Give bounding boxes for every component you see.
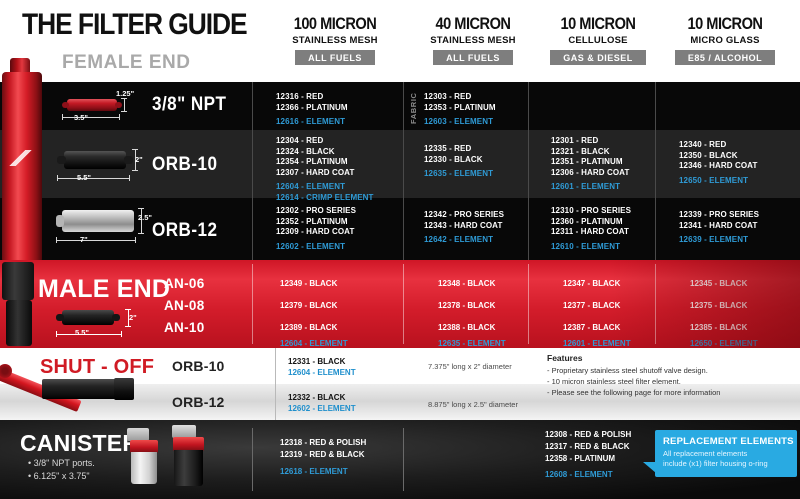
- section-title-canister: CANISTER: [20, 430, 139, 457]
- male-size-an-06: AN-06: [164, 276, 205, 291]
- canister-cell: 12317 - RED & BLACK: [545, 442, 629, 451]
- replacement-elements-callout: REPLACEMENT ELEMENTS All replacement ele…: [655, 430, 797, 477]
- shutoff-element: 12602 - ELEMENT: [288, 404, 356, 413]
- column-header-main: 100 MICRON: [275, 14, 395, 34]
- row-label-npt: 3/8" NPT: [152, 94, 226, 116]
- feature-item: - 10 micron stainless steel filter eleme…: [547, 376, 720, 387]
- column-header-sub: STAINLESS MESH: [265, 35, 405, 46]
- male-end-section: MALE END 5.5" 2" AN-06 AN-08 AN-10 12349…: [0, 260, 800, 348]
- callout-line-1: All replacement elements: [663, 449, 747, 458]
- column-divider: [403, 82, 404, 260]
- section-subtitle-female-end: FEMALE END: [62, 52, 191, 74]
- section-title-male-end: MALE END: [38, 275, 170, 304]
- column-header-sub: MICRO GLASS: [655, 35, 795, 46]
- shutoff-element: 12604 - ELEMENT: [288, 368, 356, 377]
- column-header-main: 10 MICRON: [665, 14, 785, 34]
- row-label-orb-10: ORB-10: [152, 154, 217, 176]
- canister-bullet: • 6.125" x 3.75": [28, 471, 90, 481]
- female-end-table: 3/8" NPT ORB-10 ORB-12 3.5" 1.25" 5.5": [0, 82, 800, 260]
- dimension-diameter: 2": [129, 313, 137, 322]
- table-cell-orb10-40micron: 12335 - RED 12330 - BLACK 12635 - ELEMEN…: [424, 144, 493, 180]
- male-cell: 12378 - BLACK: [438, 301, 495, 310]
- section-title-shutoff: SHUT - OFF: [40, 356, 154, 379]
- table-cell-orb12-10micron-microglass: 12339 - PRO SERIES 12341 - HARD COAT 126…: [679, 210, 759, 246]
- callout-title: REPLACEMENT ELEMENTS: [663, 436, 794, 447]
- column-divider: [403, 428, 404, 491]
- filter-guide-page: THE FILTER GUIDE FEMALE END 100 MICRON S…: [0, 0, 800, 499]
- column-header-badge: E85 / ALCOHOL: [675, 50, 775, 65]
- male-cell-element: 12635 - ELEMENT: [438, 339, 506, 348]
- shutoff-part-number: 12331 - BLACK: [288, 357, 345, 366]
- shutoff-part-number: 12332 - BLACK: [288, 393, 345, 402]
- fabric-tag: FABRIC: [409, 92, 418, 124]
- male-cell: 12379 - BLACK: [280, 301, 337, 310]
- column-divider: [528, 82, 529, 260]
- male-size-an-08: AN-08: [164, 298, 205, 313]
- features-block: Features - Proprietary stainless steel s…: [547, 353, 720, 398]
- callout-text: All replacement elements include (x1) fi…: [663, 449, 768, 469]
- canister-cell: 12318 - RED & POLISH: [280, 438, 366, 447]
- column-header-badge: ALL FUELS: [433, 50, 513, 65]
- male-cell: 12385 - BLACK: [690, 323, 747, 332]
- page-title: THE FILTER GUIDE: [22, 8, 247, 42]
- male-cell: 12375 - BLACK: [690, 301, 747, 310]
- dimension-length: 5.5": [75, 328, 89, 337]
- canister-cell: 12308 - RED & POLISH: [545, 430, 631, 439]
- table-cell-orb10-10micron-cellulose: 12301 - RED 12321 - BLACK 12351 - PLATIN…: [551, 136, 629, 193]
- male-cell: 12377 - BLACK: [563, 301, 620, 310]
- column-header-main: 10 MICRON: [538, 14, 658, 34]
- product-image-red-canister: [2, 72, 42, 262]
- column-header-main: 40 MICRON: [413, 14, 533, 34]
- shutoff-size-orb-12: ORB-12: [172, 394, 225, 410]
- column-header-badge: ALL FUELS: [295, 50, 375, 65]
- shutoff-section: SHUT - OFF ORB-10 ORB-12 12331 - BLACK 1…: [0, 348, 800, 420]
- column-header-10-micron-cellulose: 10 MICRON CELLULOSE GAS & DIESEL: [528, 14, 668, 66]
- column-divider: [655, 82, 656, 260]
- table-cell-orb12-10micron-cellulose: 12310 - PRO SERIES 12360 - PLATINUM 1231…: [551, 206, 631, 252]
- male-cell-element: 12601 - ELEMENT: [563, 339, 631, 348]
- male-cell: 12349 - BLACK: [280, 279, 337, 288]
- canister-cell: 12319 - RED & BLACK: [280, 450, 364, 459]
- canister-cell-element: 12608 - ELEMENT: [545, 470, 613, 479]
- male-cell-element: 12650 - ELEMENT: [690, 339, 758, 348]
- male-cell: 12387 - BLACK: [563, 323, 620, 332]
- shutoff-size-orb-10: ORB-10: [172, 358, 225, 374]
- table-cell-orb10-10micron-microglass: 12340 - RED 12350 - BLACK 12346 - HARD C…: [679, 140, 757, 186]
- male-cell-element: 12604 - ELEMENT: [280, 339, 348, 348]
- table-cell-npt-40micron: 12303 - RED 12353 - PLATINUM 12603 - ELE…: [424, 92, 496, 128]
- column-divider: [275, 348, 276, 420]
- table-cell-npt-100micron: 12316 - RED 12366 - PLATINUM 12616 - ELE…: [276, 92, 348, 128]
- column-divider: [252, 82, 253, 260]
- table-cell-orb12-100micron: 12302 - PRO SERIES 12352 - PLATINUM 1230…: [276, 206, 356, 252]
- column-header-sub: STAINLESS MESH: [403, 35, 543, 46]
- column-header-100-micron: 100 MICRON STAINLESS MESH ALL FUELS: [265, 14, 405, 66]
- column-header-sub: CELLULOSE: [528, 35, 668, 46]
- male-cell: 12348 - BLACK: [438, 279, 495, 288]
- canister-cell: 12358 - PLATINUM: [545, 454, 615, 463]
- column-header-10-micron-micro-glass: 10 MICRON MICRO GLASS E85 / ALCOHOL: [655, 14, 795, 66]
- male-size-an-10: AN-10: [164, 320, 205, 335]
- callout-line-2: include (x1) filter housing o-ring: [663, 459, 768, 468]
- features-title: Features: [547, 353, 720, 363]
- column-divider: [252, 428, 253, 491]
- column-header-badge: GAS & DIESEL: [550, 50, 646, 65]
- canister-bullet: • 3/8" NPT ports.: [28, 458, 95, 468]
- feature-item: - Please see the following page for more…: [547, 387, 720, 398]
- canister-cell-element: 12618 - ELEMENT: [280, 467, 348, 476]
- male-cell: 12389 - BLACK: [280, 323, 337, 332]
- table-row: [0, 82, 800, 130]
- table-cell-orb10-100micron: 12304 - RED 12324 - BLACK 12354 - PLATIN…: [276, 136, 374, 203]
- male-cell: 12388 - BLACK: [438, 323, 495, 332]
- column-header-40-micron: 40 MICRON STAINLESS MESH ALL FUELS: [403, 14, 543, 66]
- shutoff-dimensions: 8.875" long x 2.5" diameter: [428, 400, 518, 409]
- male-cell: 12345 - BLACK: [690, 279, 747, 288]
- feature-item: - Proprietary stainless steel shutoff va…: [547, 365, 720, 376]
- brand-logo-icon: [7, 150, 35, 166]
- table-cell-orb12-40micron: 12342 - PRO SERIES 12343 - HARD COAT 126…: [424, 210, 504, 246]
- row-label-orb-12: ORB-12: [152, 220, 217, 242]
- male-cell: 12347 - BLACK: [563, 279, 620, 288]
- page-header: THE FILTER GUIDE FEMALE END 100 MICRON S…: [0, 0, 800, 82]
- shutoff-dimensions: 7.375" long x 2" diameter: [428, 362, 512, 371]
